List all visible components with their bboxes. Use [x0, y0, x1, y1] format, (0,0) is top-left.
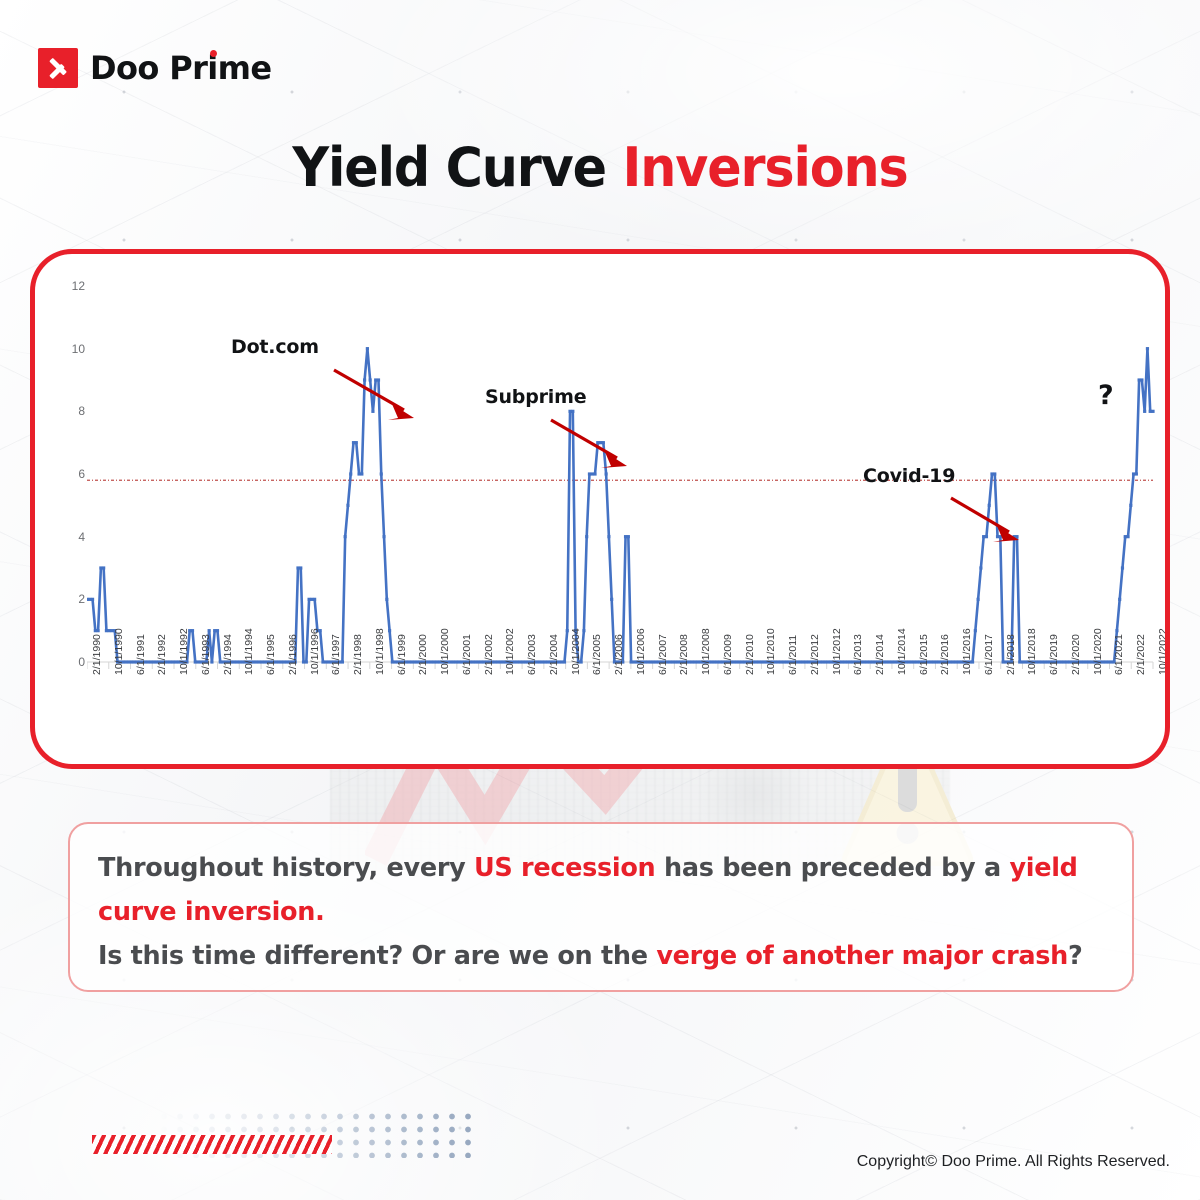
series-marker — [560, 660, 563, 663]
y-axis-tick-0: 0 — [59, 655, 85, 669]
series-marker — [382, 535, 385, 538]
caption-text-c: Is this time different? Or are we on the — [98, 941, 656, 971]
series-marker — [693, 660, 696, 663]
series-marker — [566, 629, 569, 632]
annotation-dotcom: Dot.com — [231, 336, 319, 358]
x-axis-tick-label: 2/1/1996 — [287, 634, 299, 675]
chart-plot-area: 024681012 2/1/199010/1/19906/1/19912/1/1… — [35, 254, 1165, 764]
series-marker — [130, 660, 133, 663]
x-axis-tick-label: 10/1/1998 — [374, 628, 386, 675]
x-axis-tick-label: 10/1/2004 — [570, 628, 582, 675]
series-marker — [127, 660, 130, 663]
doo-prime-mark-icon — [38, 48, 78, 88]
series-marker — [191, 629, 194, 632]
series-marker — [779, 660, 782, 663]
series-marker — [977, 598, 980, 601]
x-axis-tick-label: 2/1/2006 — [613, 634, 625, 675]
series-marker — [105, 629, 108, 632]
series-marker — [499, 660, 502, 663]
x-axis-tick-label: 10/1/2006 — [635, 628, 647, 675]
series-marker — [674, 660, 677, 663]
x-axis-tick-label: 10/1/2016 — [961, 628, 973, 675]
x-axis-tick-label: 6/1/2021 — [1113, 634, 1125, 675]
series-marker — [979, 566, 982, 569]
page-title: Yield Curve Inversions — [36, 136, 1164, 199]
x-axis-tick-label: 6/1/2017 — [983, 634, 995, 675]
y-axis-tick-8: 8 — [59, 404, 85, 418]
series-marker — [282, 660, 285, 663]
series-marker — [88, 598, 91, 601]
series-marker — [258, 660, 261, 663]
series-marker — [1104, 660, 1107, 663]
series-marker — [346, 504, 349, 507]
caption-line-2: Is this time different? Or are we on the… — [98, 934, 1104, 978]
series-marker — [432, 660, 435, 663]
series-marker — [1138, 378, 1141, 381]
annotation-covid19: Covid-19 — [863, 465, 955, 487]
caption-text-a: Throughout history, every — [98, 853, 474, 883]
series-marker — [804, 660, 807, 663]
series-marker — [352, 441, 355, 444]
x-axis-tick-label: 10/1/2010 — [765, 628, 777, 675]
x-axis-tick-label: 2/1/2008 — [678, 634, 690, 675]
series-marker — [1124, 535, 1127, 538]
series-marker — [388, 629, 391, 632]
series-marker — [380, 472, 383, 475]
x-axis-tick-label: 10/1/2002 — [504, 628, 516, 675]
series-marker — [91, 598, 94, 601]
x-axis-tick-label: 2/1/1992 — [156, 634, 168, 675]
series-marker — [713, 660, 716, 663]
series-marker — [1132, 472, 1135, 475]
series-marker — [99, 566, 102, 569]
series-marker — [169, 660, 172, 663]
series-marker — [452, 660, 455, 663]
series-marker — [691, 660, 694, 663]
caption-box: Throughout history, every US recession h… — [68, 822, 1134, 992]
series-marker — [1140, 378, 1143, 381]
series-marker — [890, 660, 893, 663]
series-marker — [366, 347, 369, 350]
caption-text-b: has been preceded by a — [655, 853, 1009, 883]
x-axis-tick-label: 6/1/1999 — [396, 634, 408, 675]
series-marker — [360, 472, 363, 475]
series-marker — [913, 660, 916, 663]
series-marker — [1135, 472, 1138, 475]
series-marker — [108, 629, 111, 632]
x-axis-tick-label: 10/1/2008 — [700, 628, 712, 675]
series-marker — [827, 660, 830, 663]
series-marker — [868, 660, 871, 663]
series-marker — [344, 535, 347, 538]
series-marker — [516, 660, 519, 663]
series-marker — [518, 660, 521, 663]
series-marker — [355, 441, 358, 444]
series-marker — [627, 535, 630, 538]
series-marker — [391, 660, 394, 663]
series-marker — [1038, 660, 1041, 663]
series-marker — [1063, 660, 1066, 663]
series-marker — [1151, 410, 1154, 413]
annotation-dotcom-arrow-icon — [330, 366, 420, 426]
series-marker — [671, 660, 674, 663]
series-marker — [1146, 347, 1149, 350]
series-marker — [738, 660, 741, 663]
y-axis-tick-2: 2 — [59, 592, 85, 606]
series-marker — [760, 660, 763, 663]
series-marker — [932, 660, 935, 663]
series-marker — [865, 660, 868, 663]
x-axis-tick-label: 10/1/2000 — [439, 628, 451, 675]
x-axis-tick-label: 10/1/2022 — [1157, 628, 1169, 675]
series-marker — [310, 598, 313, 601]
x-axis-tick-label: 2/1/1994 — [222, 634, 234, 675]
series-marker — [213, 629, 216, 632]
series-marker — [777, 660, 780, 663]
x-axis-tick-label: 6/1/1991 — [135, 634, 147, 675]
series-marker — [1129, 504, 1132, 507]
series-marker — [652, 660, 655, 663]
series-marker — [496, 660, 499, 663]
series-marker — [255, 660, 258, 663]
caption-line-1: Throughout history, every US recession h… — [98, 846, 1104, 934]
series-marker — [824, 660, 827, 663]
series-marker — [538, 660, 541, 663]
x-axis-tick-label: 10/1/2018 — [1026, 628, 1038, 675]
series-marker — [1043, 660, 1046, 663]
y-axis-tick-4: 4 — [59, 530, 85, 544]
series-marker — [94, 629, 97, 632]
x-axis-tick-label: 6/1/2011 — [787, 635, 799, 675]
series-marker — [954, 660, 957, 663]
x-axis-tick-label: 2/1/2010 — [744, 634, 756, 675]
x-axis-tick-label: 2/1/2012 — [809, 634, 821, 675]
x-axis-tick-label: 10/1/1992 — [178, 628, 190, 675]
series-marker — [1088, 660, 1091, 663]
series-marker — [716, 660, 719, 663]
series-marker — [313, 598, 316, 601]
x-axis-tick-label: 6/1/2001 — [461, 634, 473, 675]
series-marker — [413, 660, 416, 663]
series-marker — [430, 660, 433, 663]
series-marker — [1149, 410, 1152, 413]
series-marker — [563, 660, 566, 663]
series-marker — [571, 410, 574, 413]
caption-highlight-major-crash: verge of another major crash — [656, 941, 1068, 971]
x-axis-tick-label: 10/1/2020 — [1092, 628, 1104, 675]
series-marker — [280, 660, 283, 663]
series-marker — [888, 660, 891, 663]
y-axis: 024681012 — [51, 254, 85, 764]
series-marker — [993, 472, 996, 475]
series-marker — [1060, 660, 1063, 663]
series-marker — [630, 660, 633, 663]
series-marker — [521, 660, 524, 663]
x-axis-tick-label: 2/1/1998 — [352, 634, 364, 675]
series-marker — [735, 660, 738, 663]
x-axis-tick-label: 2/1/2018 — [1005, 634, 1017, 675]
series-marker — [543, 660, 546, 663]
infographic-page: Doo Prime Yield Curve Inversions 0246810… — [0, 0, 1200, 1200]
y-axis-tick-12: 12 — [59, 279, 85, 293]
x-axis-tick-label: 6/1/2019 — [1048, 634, 1060, 675]
series-marker — [102, 566, 105, 569]
series-marker — [607, 535, 610, 538]
series-marker — [1107, 660, 1110, 663]
series-marker — [1143, 410, 1146, 413]
series-marker — [307, 598, 310, 601]
caption-highlight-us-recession: US recession — [474, 853, 655, 883]
series-marker — [802, 660, 805, 663]
series-marker — [97, 629, 100, 632]
logo-i-dot-icon — [210, 50, 217, 57]
series-marker — [649, 660, 652, 663]
x-axis-tick-label: 6/1/2013 — [852, 634, 864, 675]
series-marker — [321, 660, 324, 663]
annotation-subprime-arrow-icon — [547, 416, 637, 476]
series-marker — [624, 535, 627, 538]
series-marker — [568, 410, 571, 413]
brand-name: Doo Prime — [90, 49, 272, 87]
series-marker — [149, 660, 152, 663]
caption-text-d: ? — [1068, 941, 1083, 971]
series-marker — [410, 660, 413, 663]
x-axis-tick-label: 2/1/2004 — [548, 634, 560, 675]
series-marker — [1118, 598, 1121, 601]
x-axis-tick-label: 6/1/1993 — [200, 634, 212, 675]
series-marker — [610, 598, 613, 601]
series-marker — [952, 660, 955, 663]
series-marker — [990, 472, 993, 475]
page-title-part1: Yield Curve — [292, 136, 622, 199]
series-marker — [171, 660, 174, 663]
series-marker — [296, 566, 299, 569]
series-marker — [235, 660, 238, 663]
y-axis-tick-10: 10 — [59, 342, 85, 356]
series-marker — [1021, 660, 1024, 663]
x-axis-tick-label: 6/1/2005 — [591, 634, 603, 675]
x-axis-tick-label: 2/1/2020 — [1070, 634, 1082, 675]
series-marker — [194, 660, 197, 663]
x-axis-tick-label: 10/1/2014 — [896, 628, 908, 675]
series-marker — [1018, 660, 1021, 663]
x-axis-tick-label: 2/1/2000 — [417, 634, 429, 675]
series-marker — [260, 660, 263, 663]
series-marker — [238, 660, 241, 663]
series-marker — [957, 660, 960, 663]
x-axis-tick-label: 2/1/2002 — [483, 634, 495, 675]
series-marker — [435, 660, 438, 663]
annotation-question-mark: ? — [1098, 380, 1114, 411]
series-marker — [696, 660, 699, 663]
series-marker — [541, 660, 544, 663]
series-marker — [302, 660, 305, 663]
x-axis-tick-label: 2/1/1990 — [91, 634, 103, 675]
series-marker — [1040, 660, 1043, 663]
x-axis-tick-label: 10/1/1994 — [243, 628, 255, 675]
x-axis-tick-label: 6/1/2003 — [526, 634, 538, 675]
series-marker — [208, 629, 211, 632]
series-marker — [1085, 660, 1088, 663]
decoration-stripe-bar — [92, 1135, 332, 1154]
chart-card: 024681012 2/1/199010/1/19906/1/19912/1/1… — [30, 249, 1170, 769]
annotation-subprime: Subprime — [485, 386, 586, 408]
series-marker — [1121, 566, 1124, 569]
series-marker — [585, 535, 588, 538]
series-marker — [935, 660, 938, 663]
x-axis-tick-label: 6/1/1997 — [330, 634, 342, 675]
series-marker — [1126, 535, 1129, 538]
series-marker — [305, 660, 308, 663]
x-axis-tick-label: 10/1/1996 — [309, 628, 321, 675]
x-axis-tick-label: 6/1/2007 — [657, 634, 669, 675]
series-marker — [455, 660, 458, 663]
series-marker — [846, 660, 849, 663]
x-axis-tick-label: 6/1/1995 — [265, 634, 277, 675]
series-marker — [910, 660, 913, 663]
series-marker — [821, 660, 824, 663]
series-marker — [385, 598, 388, 601]
series-marker — [299, 566, 302, 569]
series-marker — [152, 660, 155, 663]
annotation-covid19-arrow-icon — [947, 494, 1037, 549]
series-marker — [799, 660, 802, 663]
series-marker — [277, 660, 280, 663]
series-marker — [477, 660, 480, 663]
series-marker — [757, 660, 760, 663]
series-marker — [974, 629, 977, 632]
x-axis-tick-label: 10/1/2012 — [831, 628, 843, 675]
x-axis-tick-label: 2/1/2014 — [874, 634, 886, 675]
series-marker — [843, 660, 846, 663]
x-axis-tick-label: 2/1/2016 — [939, 634, 951, 675]
x-axis-tick-label: 6/1/2015 — [918, 634, 930, 675]
y-axis-tick-6: 6 — [59, 467, 85, 481]
series-marker — [782, 660, 785, 663]
series-marker — [174, 660, 177, 663]
series-marker — [1115, 629, 1118, 632]
series-marker — [357, 472, 360, 475]
series-marker — [582, 629, 585, 632]
series-marker — [324, 660, 327, 663]
page-title-part2: Inversions — [622, 136, 907, 199]
brand-logo[interactable]: Doo Prime — [38, 48, 272, 88]
series-marker — [349, 472, 352, 475]
series-marker — [1065, 660, 1068, 663]
x-axis-tick-label: 2/1/2022 — [1135, 634, 1147, 675]
x-axis-tick-label: 6/1/2009 — [722, 634, 734, 675]
series-marker — [1082, 660, 1085, 663]
series-marker — [216, 629, 219, 632]
x-axis-tick-label: 10/1/1990 — [113, 628, 125, 675]
footer-copyright: Copyright© Doo Prime. All Rights Reserve… — [857, 1153, 1170, 1171]
series-marker — [474, 660, 477, 663]
